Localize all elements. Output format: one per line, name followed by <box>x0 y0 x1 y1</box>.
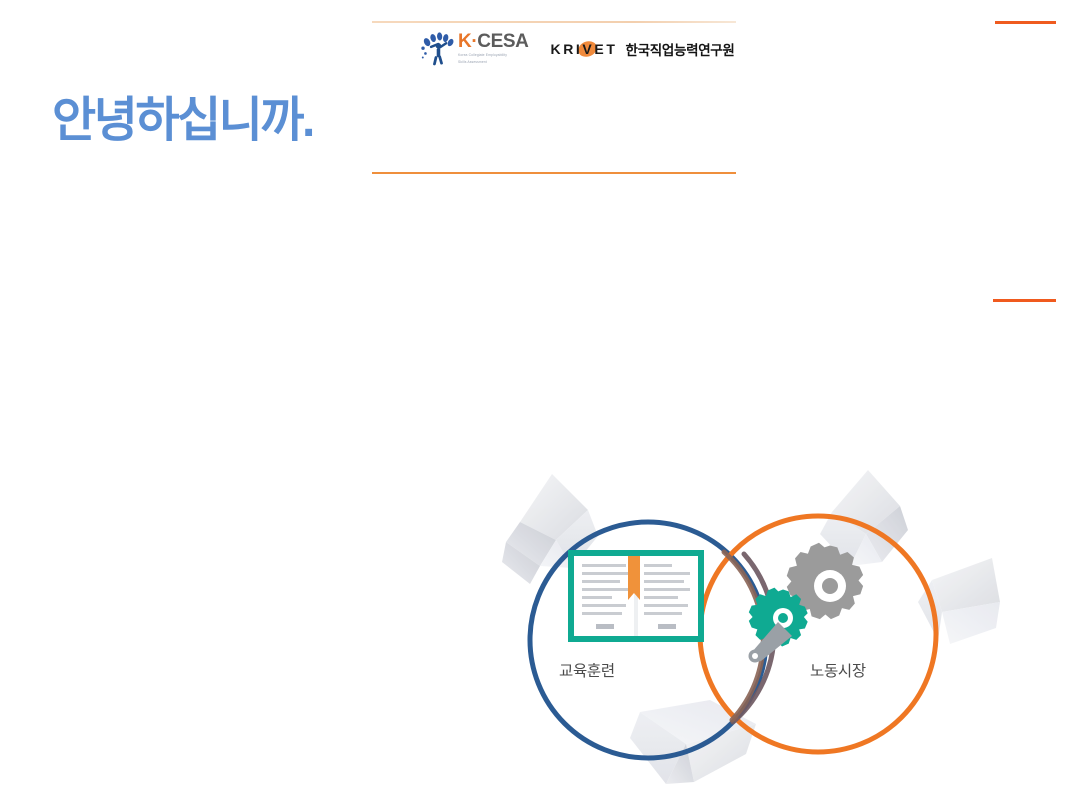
krivet-letter-0: K <box>550 41 563 57</box>
kcesa-subtitle-line2: Skills Assessment <box>458 60 528 65</box>
kcesa-wordmark: K·CESA Korea Collegiate Employability Sk… <box>458 32 528 66</box>
kcesa-subtitle-line1: Korea Collegiate Employability <box>458 53 528 58</box>
left-circle-label: 교육훈련 <box>559 659 615 681</box>
logo-band: K·CESA Korea Collegiate Employability Sk… <box>420 28 740 70</box>
gears-wrench-icon <box>749 543 864 663</box>
right-circle-label: 노동시장 <box>810 659 866 681</box>
two-circles-diagram <box>480 462 1020 802</box>
kcesa-letter-k: K <box>458 31 471 52</box>
krivet-letter-3: V <box>582 41 594 57</box>
diagram-svg <box>480 462 1020 802</box>
krivet-letter-1: R <box>563 41 576 57</box>
krivet-letter-4: E <box>594 41 606 57</box>
top-right-accent-rule <box>995 21 1056 24</box>
krivet-wordmark: KRIVET <box>550 41 617 57</box>
krivet-logo: KRIVET 한국직업능력연구원 <box>550 34 734 64</box>
page-title: 안녕하십니까. <box>52 92 313 150</box>
krivet-letter-5: T <box>606 41 617 57</box>
under-logos-divider <box>372 172 736 174</box>
mid-right-accent-rule <box>993 299 1056 302</box>
slide-canvas: K·CESA Korea Collegiate Employability Sk… <box>0 0 1080 810</box>
kcesa-logo: K·CESA Korea Collegiate Employability Sk… <box>420 30 528 68</box>
kcesa-name: K·CESA <box>458 32 528 51</box>
krivet-korean-name: 한국직업능력연구원 <box>625 39 734 59</box>
top-center-divider <box>372 21 736 23</box>
kcesa-figure-icon <box>420 32 456 66</box>
kcesa-letters-rest: CESA <box>477 31 528 52</box>
open-book-icon <box>568 550 704 642</box>
